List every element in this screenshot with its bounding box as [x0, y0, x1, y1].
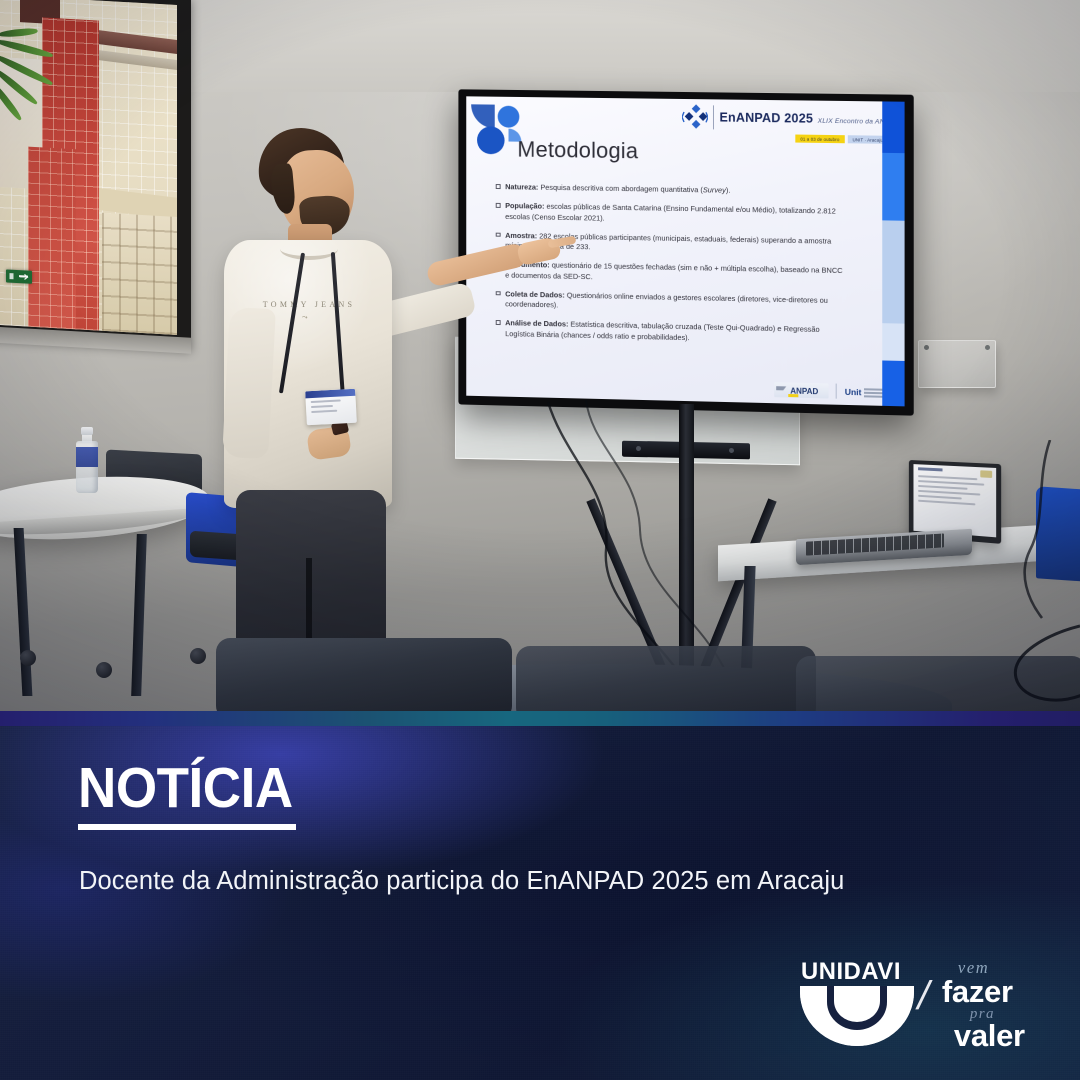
window-glass — [0, 0, 177, 335]
exit-arrow-icon — [6, 269, 32, 283]
presenter-near-arm — [222, 307, 276, 459]
unidavi-u-mark-icon — [800, 986, 914, 1046]
foreground-chair-2 — [516, 646, 816, 716]
foreground-chair-1 — [216, 638, 512, 716]
header-divider — [713, 105, 714, 129]
slide-title: Metodologia — [517, 137, 638, 165]
news-card: EnANPAD 2025 XLIX Encontro da ANPAD 01 a… — [0, 0, 1080, 1080]
photo-region: EnANPAD 2025 XLIX Encontro da ANPAD 01 a… — [0, 0, 1080, 716]
accent-strip — [0, 711, 1080, 726]
list-item: Coleta de Dados: Questionários online en… — [496, 289, 844, 317]
footer-divider — [836, 384, 837, 399]
tagline-valer: valer — [954, 1018, 1025, 1054]
list-item: Instrumento: questionário de 15 questões… — [496, 260, 844, 288]
tshirt-brand-mark: ⤳ — [302, 314, 308, 322]
checkbox-icon — [496, 291, 501, 296]
plant-leaves — [0, 31, 70, 147]
checkbox-icon — [496, 320, 501, 325]
list-item: População: escolas públicas de Santa Cat… — [496, 201, 844, 228]
logo-separator: / — [913, 974, 934, 1019]
list-item: Análise de Dados: Estatística descritiva… — [496, 318, 844, 347]
checkbox-icon — [496, 203, 501, 208]
chair-caster — [20, 650, 36, 666]
cable-right — [980, 440, 1080, 620]
checkbox-icon — [496, 184, 501, 189]
unidavi-logo: UNIDAVI — [798, 956, 912, 1048]
water-bottle — [76, 427, 98, 493]
window-frame — [0, 0, 191, 350]
tshirt-brand-text: TOMMY JEANS — [254, 300, 364, 309]
slide-edge-blocks — [882, 101, 904, 406]
unidavi-wordmark: UNIDAVI — [801, 958, 901, 986]
anpad-diamond-icon — [682, 104, 708, 130]
conference-badge — [305, 389, 357, 426]
list-item: Natureza: Pesquisa descritiva com aborda… — [496, 182, 844, 198]
relief-tile-wall — [102, 213, 177, 335]
slide-decoration-circles — [471, 104, 524, 156]
kicker-underline — [78, 824, 296, 830]
checkbox-icon — [496, 232, 501, 237]
presenter-sideburn — [270, 163, 296, 215]
slide-bullet-list: Natureza: Pesquisa descritiva com aborda… — [496, 182, 844, 355]
presenter: TOMMY JEANS ⤳ — [196, 128, 426, 716]
laptop-keys — [806, 533, 944, 555]
presenter-collar — [280, 238, 338, 260]
slide-event-header: EnANPAD 2025 XLIX Encontro da ANPAD — [682, 104, 898, 133]
event-name: EnANPAD 2025 — [719, 110, 813, 125]
acrylic-sign-holder — [918, 340, 996, 388]
event-date-badge: 01 a 03 de outubro — [795, 135, 844, 144]
tagline-lockup: vem fazer pra valer — [940, 956, 1048, 1048]
anpad-logo: ANPAD — [774, 382, 828, 398]
kicker-label: NOTÍCIA — [78, 760, 293, 817]
chair-caster — [96, 662, 112, 678]
foreground-cable — [960, 620, 1080, 716]
unidavi-logo-lockup: UNIDAVI / vem fazer pra valer — [798, 956, 1048, 1048]
red-tile-column-lower — [28, 147, 76, 330]
tagline-fazer: fazer — [942, 974, 1013, 1010]
laptop-slide-title — [918, 467, 942, 471]
headline-text: Docente da Administração participa do En… — [79, 864, 960, 898]
svg-text:Unit: Unit — [845, 387, 862, 398]
slide-footer-logos: ANPAD Unit — [774, 382, 894, 400]
